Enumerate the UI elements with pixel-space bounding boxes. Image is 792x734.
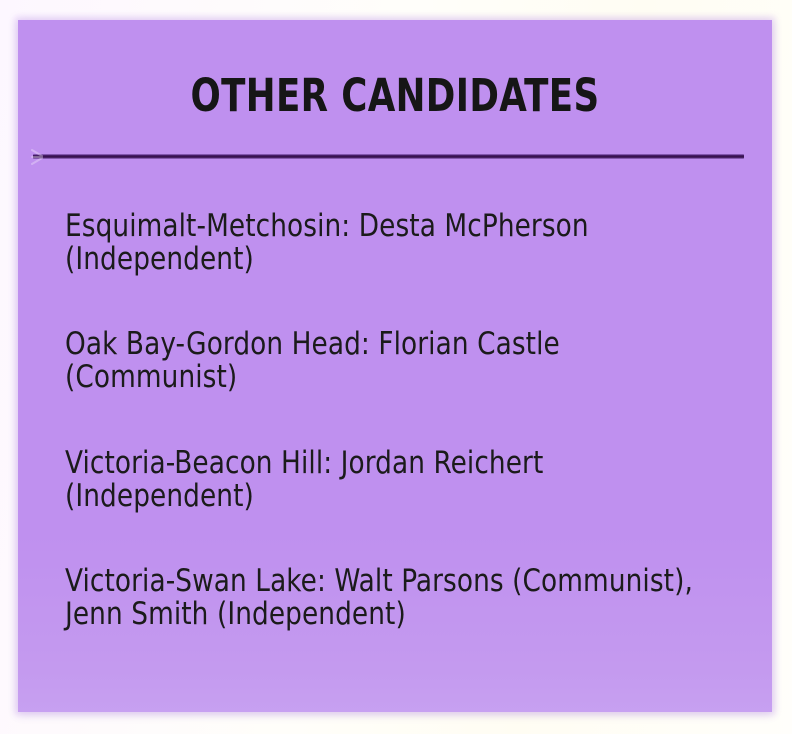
candidate-list: Esquimalt-Metchosin: Desta McPherson (In…	[65, 210, 755, 631]
title-divider	[33, 154, 744, 159]
page-title: OTHER CANDIDATES	[63, 73, 727, 118]
content-panel: OTHER CANDIDATES Esquimalt-Metchosin: De…	[18, 20, 772, 712]
list-item: Victoria-Beacon Hill: Jordan Reichert (I…	[65, 447, 717, 513]
list-item: Oak Bay-Gordon Head: Florian Castle (Com…	[65, 328, 717, 394]
slide-root: OTHER CANDIDATES Esquimalt-Metchosin: De…	[0, 0, 792, 734]
list-item: Esquimalt-Metchosin: Desta McPherson (In…	[65, 210, 717, 276]
list-item: Victoria-Swan Lake: Walt Parsons (Commun…	[65, 565, 717, 631]
